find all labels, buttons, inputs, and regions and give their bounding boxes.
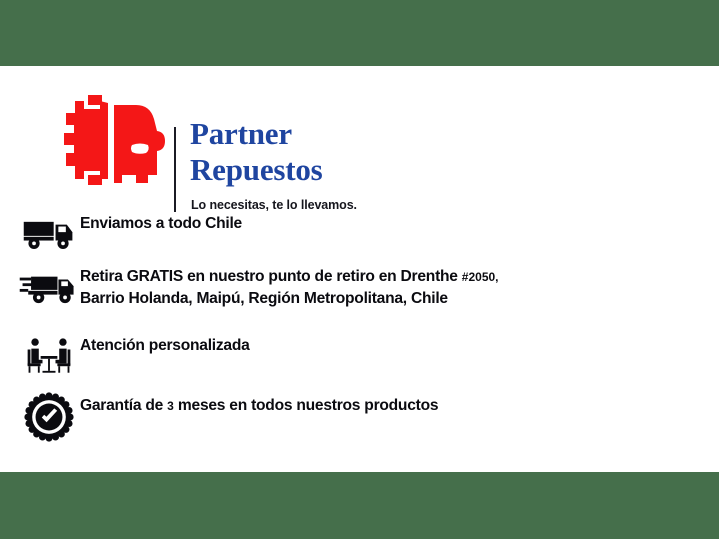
- logo-divider: [174, 127, 176, 212]
- guarantee-badge-check-icon: [18, 394, 80, 440]
- content-area: Partner Repuestos Lo necesitas, te lo ll…: [0, 66, 719, 472]
- wordmark-line-1: Partner: [190, 118, 520, 149]
- moving-truck-icon: [18, 266, 80, 310]
- warranty-text-suffix: meses en todos nuestros productos: [174, 397, 438, 414]
- wordmark: Partner Repuestos: [190, 118, 520, 185]
- feature-row-support: Atención personalizada: [0, 334, 719, 378]
- feature-text-shipping: Enviamos a todo Chile: [80, 212, 600, 235]
- people-at-table-icon: [18, 334, 80, 378]
- pickup-text-line1: Retira GRATIS en nuestro punto de retiro…: [80, 268, 462, 285]
- top-green-band: [0, 0, 719, 66]
- warranty-text-prefix: Garantía de: [80, 397, 167, 414]
- feature-row-pickup: Retira GRATIS en nuestro punto de retiro…: [0, 266, 719, 310]
- feature-text-warranty: Garantía de 3 meses en todos nuestros pr…: [80, 394, 600, 417]
- delivery-truck-icon: [18, 212, 80, 256]
- pickup-text-line2: Barrio Holanda, Maipú, Región Metropolit…: [80, 290, 448, 307]
- feature-row-warranty: Garantía de 3 meses en todos nuestros pr…: [0, 394, 719, 440]
- bottom-green-band: [0, 472, 719, 539]
- brand-logo-block: Partner Repuestos Lo necesitas, te lo ll…: [0, 93, 719, 193]
- feature-text-support: Atención personalizada: [80, 334, 600, 357]
- feature-text-pickup: Retira GRATIS en nuestro punto de retiro…: [80, 266, 600, 310]
- brand-tagline: Lo necesitas, te lo llevamos.: [191, 198, 357, 212]
- pickup-street-number: #2050,: [462, 270, 499, 284]
- warranty-months-number: 3: [167, 399, 174, 413]
- wordmark-line-2: Repuestos: [190, 154, 520, 185]
- promo-banner: Partner Repuestos Lo necesitas, te lo ll…: [0, 0, 719, 539]
- gear-car-logo-icon: [62, 93, 166, 189]
- feature-row-shipping: Enviamos a todo Chile: [0, 212, 719, 256]
